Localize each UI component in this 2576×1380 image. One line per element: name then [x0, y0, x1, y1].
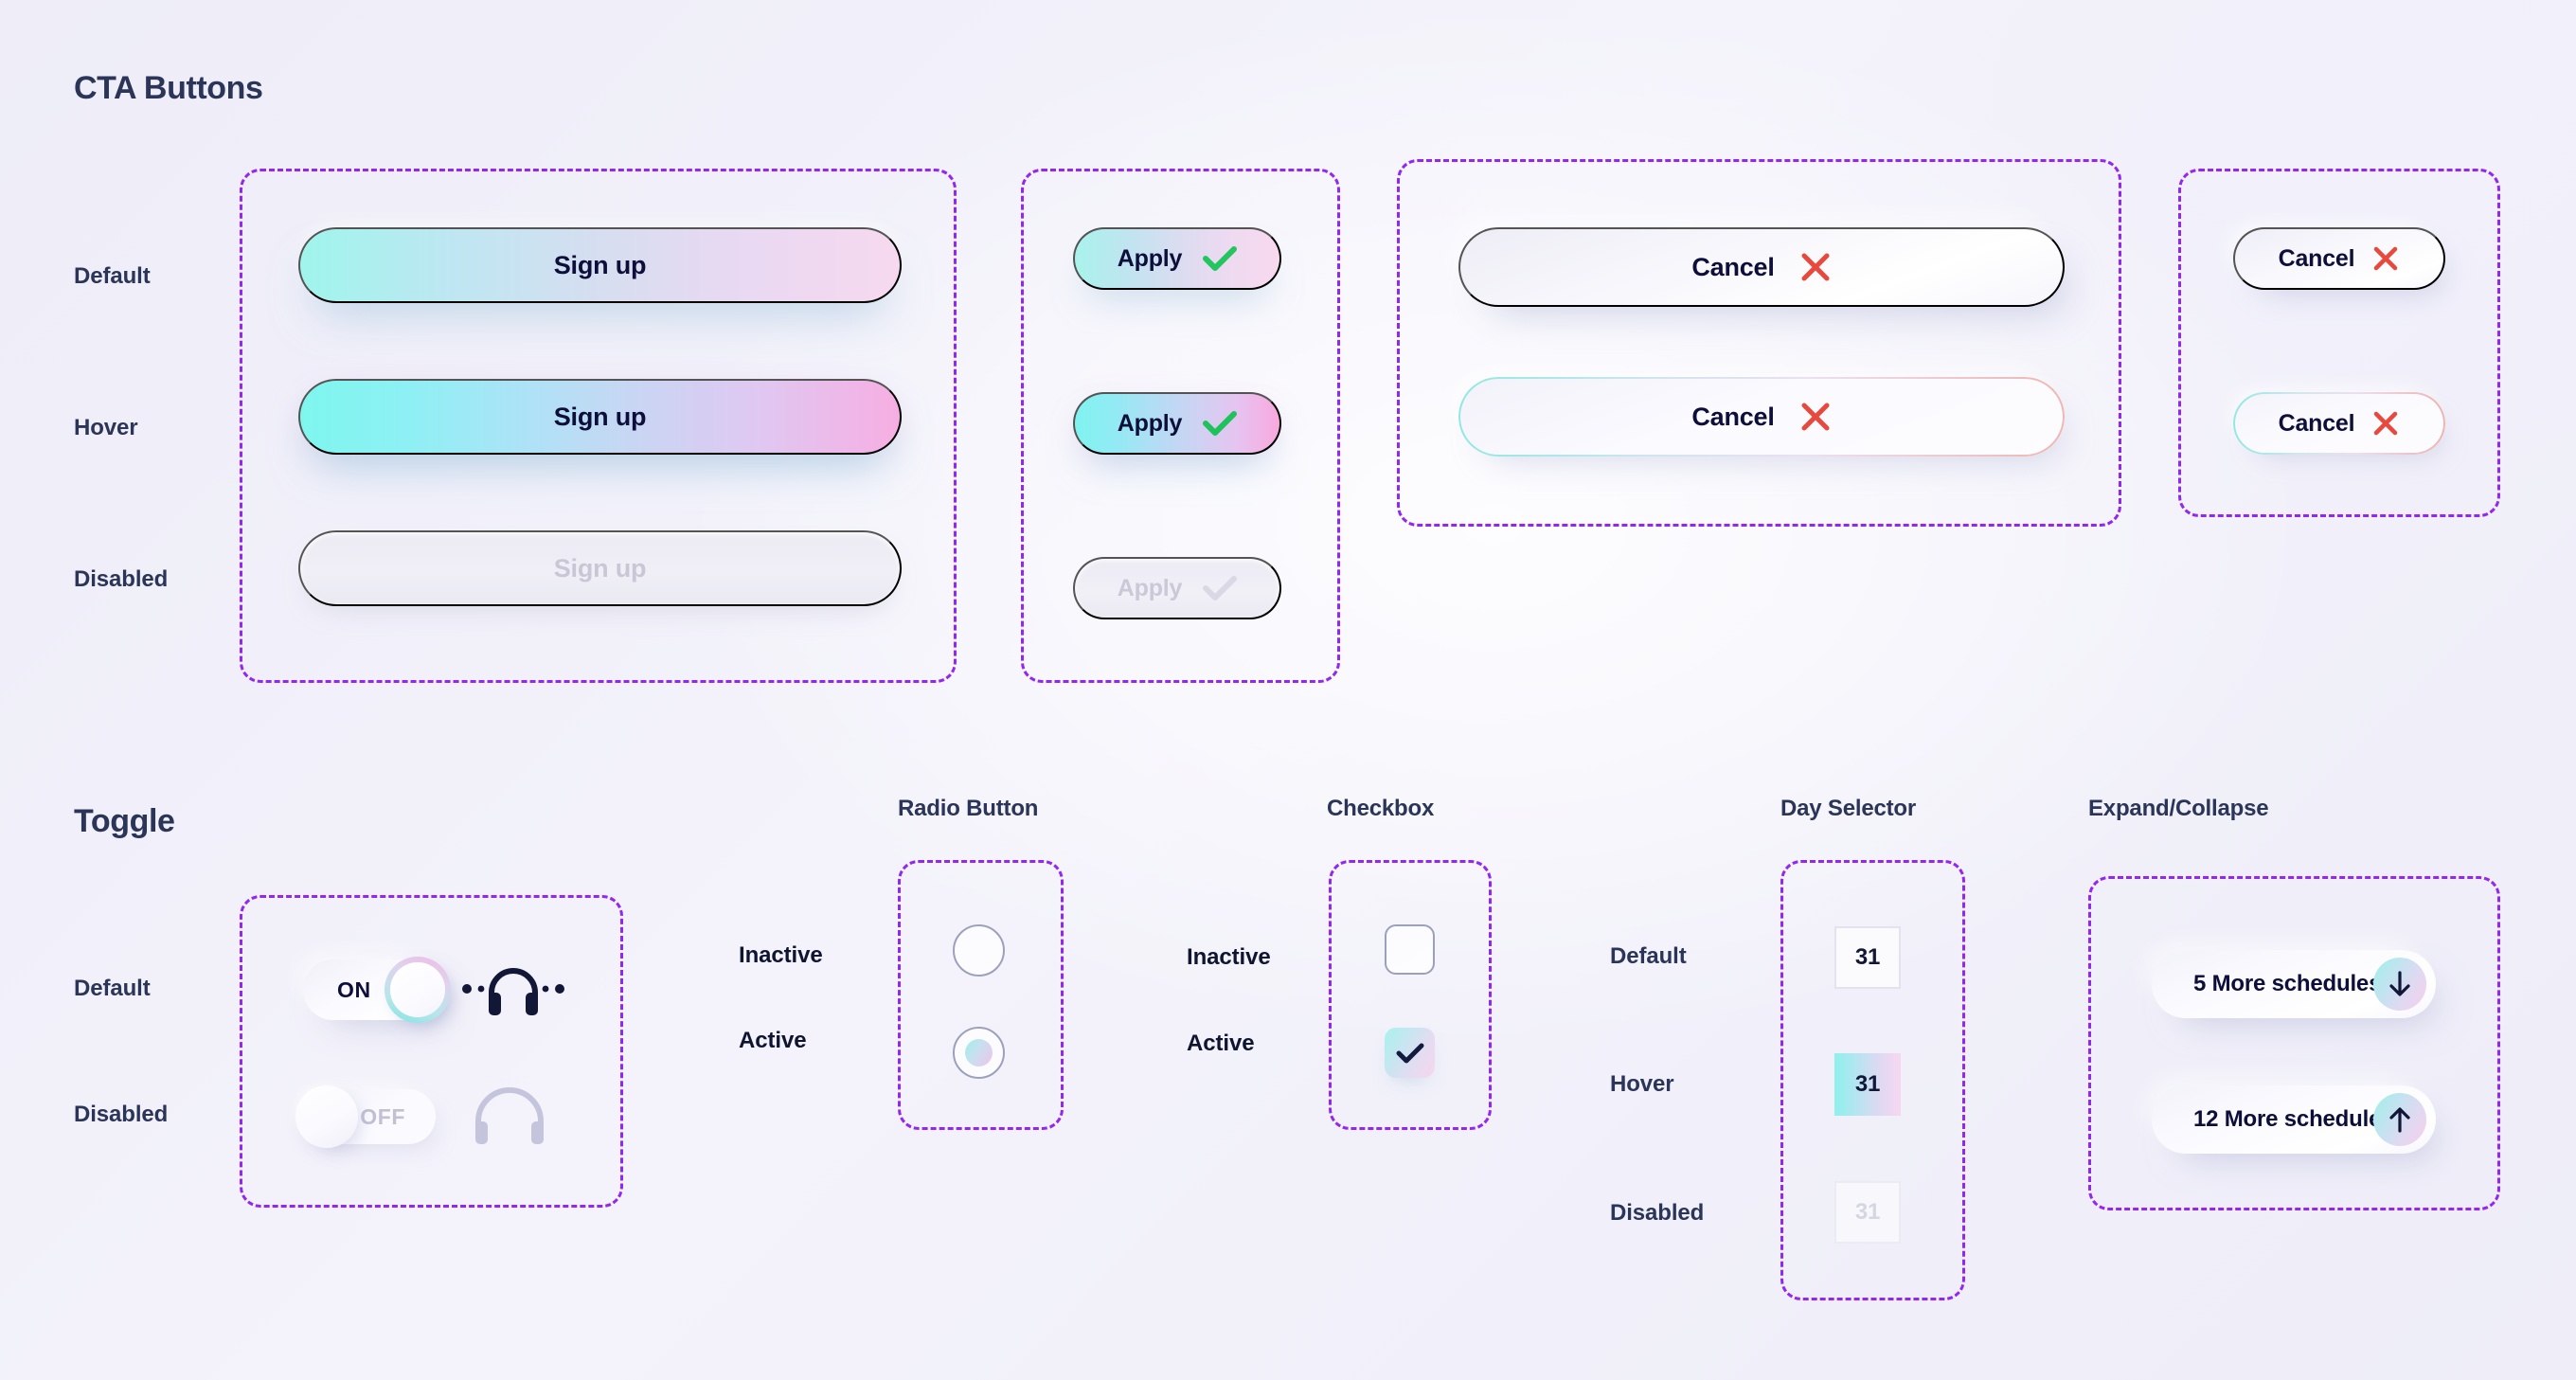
page-title-cta: CTA Buttons	[74, 70, 263, 107]
guide-box-cancel-large	[1397, 159, 2121, 527]
row-label-inactive-radio: Inactive	[739, 942, 823, 969]
radio-dot	[965, 1039, 993, 1066]
row-label-disabled-day: Disabled	[1610, 1200, 1704, 1227]
checkbox-active[interactable]	[1385, 1028, 1435, 1078]
page-title-checkbox: Checkbox	[1327, 796, 1434, 822]
day-value: 31	[1855, 1071, 1880, 1098]
expand-button-more-schedules[interactable]: 5 More schedules	[2152, 950, 2436, 1018]
close-icon	[1799, 401, 1832, 433]
cancel-button-small-hover[interactable]: Cancel	[2233, 392, 2445, 455]
check-icon	[1203, 246, 1237, 272]
close-icon	[2371, 244, 2400, 273]
guide-box-checkbox	[1329, 860, 1492, 1130]
apply-button-hover[interactable]: Apply	[1073, 392, 1281, 455]
apply-button-default[interactable]: Apply	[1073, 227, 1281, 290]
row-label-disabled-cta: Disabled	[74, 566, 168, 593]
row-label-inactive-checkbox: Inactive	[1187, 944, 1271, 971]
arrow-up-icon[interactable]	[2373, 1093, 2426, 1146]
row-label-hover-cta: Hover	[74, 415, 138, 441]
cancel-label: Cancel	[1691, 253, 1774, 282]
signup-label: Sign up	[554, 251, 647, 280]
row-label-default-day: Default	[1610, 943, 1687, 970]
row-label-default-toggle: Default	[74, 976, 151, 1002]
checkbox-inactive[interactable]	[1385, 924, 1435, 975]
cancel-label: Cancel	[2279, 245, 2355, 273]
page-title-radio: Radio Button	[898, 796, 1038, 822]
toggle-switch-default[interactable]: ON	[303, 959, 443, 1020]
row-label-active-checkbox: Active	[1187, 1031, 1254, 1057]
row-label-disabled-toggle: Disabled	[74, 1102, 168, 1128]
apply-button-disabled[interactable]: Apply	[1073, 557, 1281, 619]
check-icon	[1203, 576, 1237, 601]
row-label-active-radio: Active	[739, 1028, 806, 1054]
collapse-button-more-schedules[interactable]: 12 More schedules	[2152, 1085, 2436, 1154]
cancel-label: Cancel	[1691, 403, 1774, 432]
day-cell-disabled[interactable]: 31	[1834, 1181, 1901, 1244]
row-label-default-cta: Default	[74, 263, 151, 290]
guide-box-radio	[898, 860, 1064, 1130]
page-title-expand-collapse: Expand/Collapse	[2088, 796, 2268, 822]
headphones-icon	[469, 1087, 550, 1148]
toggle-on-label: ON	[337, 977, 371, 1003]
close-icon	[1799, 251, 1832, 283]
radio-button-active[interactable]	[953, 1027, 1005, 1079]
signup-button-hover[interactable]: Sign up	[298, 379, 902, 455]
toggle-off-label: OFF	[360, 1104, 405, 1130]
day-cell-default[interactable]: 31	[1834, 926, 1901, 989]
page-title-toggle: Toggle	[74, 803, 175, 840]
cancel-label: Cancel	[2279, 410, 2355, 438]
check-icon	[1395, 1042, 1425, 1065]
collapse-label: 12 More schedules	[2193, 1106, 2393, 1133]
signup-button-disabled[interactable]: Sign up	[298, 530, 902, 606]
radio-button-inactive[interactable]	[953, 924, 1005, 977]
close-icon	[2371, 409, 2400, 438]
arrow-down-icon[interactable]	[2373, 958, 2426, 1011]
apply-label: Apply	[1118, 245, 1182, 273]
apply-label: Apply	[1118, 575, 1182, 602]
toggle-knob[interactable]	[385, 957, 451, 1023]
cancel-button-large-hover[interactable]: Cancel	[1458, 377, 2065, 457]
signup-label: Sign up	[554, 403, 647, 432]
guide-box-expand-collapse	[2088, 876, 2500, 1210]
guide-box-toggle	[240, 895, 623, 1208]
check-icon	[1203, 411, 1237, 437]
signup-label: Sign up	[554, 554, 647, 583]
headphones-icon	[461, 957, 565, 1023]
signup-button-default[interactable]: Sign up	[298, 227, 902, 303]
day-value: 31	[1855, 1199, 1880, 1226]
guide-box-cancel-small	[2178, 169, 2500, 517]
toggle-switch-disabled[interactable]: OFF	[303, 1089, 436, 1144]
expand-label: 5 More schedules	[2193, 971, 2381, 997]
apply-label: Apply	[1118, 410, 1182, 438]
page-title-day-selector: Day Selector	[1780, 796, 1916, 822]
row-label-hover-day: Hover	[1610, 1071, 1674, 1098]
day-value: 31	[1855, 944, 1880, 971]
cancel-button-small-default[interactable]: Cancel	[2233, 227, 2445, 290]
day-cell-hover[interactable]: 31	[1834, 1053, 1901, 1116]
cancel-button-large-default[interactable]: Cancel	[1458, 227, 2065, 307]
toggle-knob[interactable]	[295, 1085, 358, 1148]
